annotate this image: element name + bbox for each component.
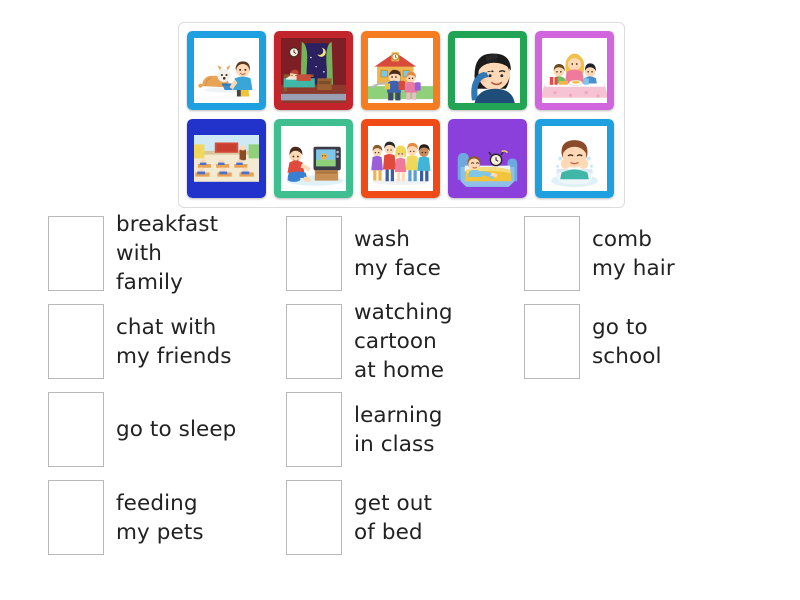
tile-border	[274, 119, 353, 198]
answer-go-to-school: go to school	[524, 304, 764, 379]
tile-go-to-school[interactable]	[361, 31, 440, 110]
activity-page: breakfast with family chat with my frien…	[0, 0, 800, 600]
drop-zone[interactable]	[48, 392, 104, 467]
tile-go-to-sleep[interactable]	[274, 31, 353, 110]
answer-breakfast-with-family: breakfast with family	[48, 216, 288, 291]
answer-label: breakfast with family	[116, 210, 218, 297]
tile-border	[535, 119, 614, 198]
image-tray-row-1	[183, 28, 620, 116]
tile-wash-my-face[interactable]	[535, 119, 614, 198]
tile-breakfast-family[interactable]	[535, 31, 614, 110]
image-tray-row-2	[183, 116, 620, 204]
answer-label: go to sleep	[116, 415, 236, 444]
tile-border	[361, 31, 440, 110]
tile-get-out-of-bed[interactable]	[448, 119, 527, 198]
tile-border	[361, 119, 440, 198]
answer-label: comb my hair	[592, 225, 675, 283]
answer-go-to-sleep: go to sleep	[48, 392, 288, 467]
answer-column-3: comb my hair go to school	[524, 216, 764, 392]
answer-get-out-of-bed: get out of bed	[286, 480, 526, 555]
tile-comb-my-hair[interactable]	[448, 31, 527, 110]
answer-label: get out of bed	[354, 489, 432, 547]
tile-feeding-pets[interactable]	[187, 31, 266, 110]
tile-border	[187, 31, 266, 110]
drop-zone[interactable]	[524, 304, 580, 379]
tile-chat-with-friends[interactable]	[361, 119, 440, 198]
tile-border	[187, 119, 266, 198]
tile-border	[448, 119, 527, 198]
drop-zone[interactable]	[48, 216, 104, 291]
tile-watching-cartoon[interactable]	[274, 119, 353, 198]
answer-column-2: wash my face watching cartoon at home le…	[286, 216, 526, 568]
drop-zone[interactable]	[286, 392, 342, 467]
tile-border	[535, 31, 614, 110]
drop-zone[interactable]	[286, 304, 342, 379]
tile-learning-in-class[interactable]	[187, 119, 266, 198]
answer-label: watching cartoon at home	[354, 298, 453, 385]
answer-label: learning in class	[354, 401, 443, 459]
answer-learning-in-class: learning in class	[286, 392, 526, 467]
drop-zone[interactable]	[48, 304, 104, 379]
answer-comb-my-hair: comb my hair	[524, 216, 764, 291]
drop-zone[interactable]	[286, 480, 342, 555]
answer-wash-my-face: wash my face	[286, 216, 526, 291]
answer-label: feeding my pets	[116, 489, 204, 547]
tile-border	[274, 31, 353, 110]
drop-zone[interactable]	[48, 480, 104, 555]
drop-zone[interactable]	[286, 216, 342, 291]
answer-watching-cartoon-home: watching cartoon at home	[286, 304, 526, 379]
image-tray	[178, 22, 625, 208]
drop-zone[interactable]	[524, 216, 580, 291]
answer-label: chat with my friends	[116, 313, 232, 371]
answer-label: wash my face	[354, 225, 441, 283]
answer-label: go to school	[592, 313, 662, 371]
answer-feeding-my-pets: feeding my pets	[48, 480, 288, 555]
answer-column-1: breakfast with family chat with my frien…	[48, 216, 288, 568]
answer-chat-with-my-friends: chat with my friends	[48, 304, 288, 379]
tile-border	[448, 31, 527, 110]
